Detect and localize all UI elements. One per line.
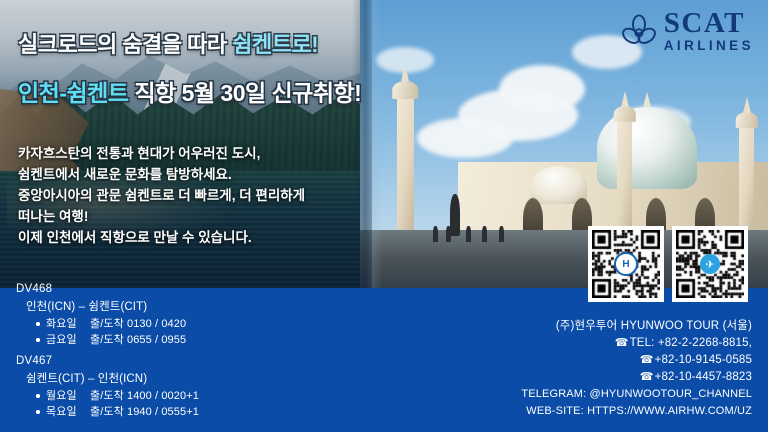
hyunwoo-h-logo-icon: H [614, 252, 638, 276]
contact-block: (주)현우투어 HYUNWOO TOUR (서울) ☎TEL: +82-2-22… [452, 318, 752, 420]
flight-times-list: 화요일출/도착 0130 / 0420 금요일출/도착 0655 / 0955 [16, 316, 356, 348]
minaret [739, 121, 754, 239]
flight-times-list: 월요일출/도착 1400 / 0020+1 목요일출/도착 1940 / 055… [16, 388, 356, 420]
minaret [397, 91, 414, 239]
headline-primary: 실크로드의 숨결을 따라 쉼켄트로! [18, 27, 318, 59]
pedestrian [433, 226, 438, 242]
flight-dep-arr-label: 출/도착 [90, 334, 124, 346]
flight-times: 0130 / 0420 [127, 318, 186, 330]
body-copy-line: 쉼켄트에서 새로운 문화를 탐방하세요. [18, 164, 358, 185]
flight-times: 0655 / 0955 [127, 334, 186, 346]
phone-icon: ☎ [640, 354, 654, 366]
flight-time-row: 금요일출/도착 0655 / 0955 [46, 332, 356, 348]
scat-airlines-logo: SCAT AIRLINES [621, 9, 754, 53]
phone-line-2: ☎+82-10-9145-0585 [452, 352, 752, 369]
flight-times: 1940 / 0555+1 [127, 406, 199, 418]
phone-number: TEL: +82-2-2268-8815, [630, 337, 752, 349]
body-copy-line: 떠나는 여행! [18, 206, 358, 227]
pedestrian [499, 226, 504, 242]
flight-number: DV467 [16, 355, 356, 367]
qr-code-group: H ✈ [588, 226, 748, 302]
headline-primary-accent: 쉼켄트로! [232, 32, 318, 57]
telegram-handle: TELEGRAM: @HYUNWOOTOUR_CHANNEL [452, 386, 752, 403]
plaza-statue [450, 194, 460, 236]
flight-day: 금요일 [46, 332, 90, 348]
flight-times: 1400 / 0020+1 [127, 390, 199, 402]
headline-primary-main: 실크로드의 숨결을 따라 [18, 32, 232, 57]
flight-route: 쉼켄트(CIT) – 인천(ICN) [26, 370, 356, 386]
flight-route: 인천(ICN) – 쉼켄트(CIT) [26, 298, 356, 314]
headline-secondary-main: 직항 5월 30일 신규취항! [128, 80, 361, 106]
pedestrian [466, 226, 471, 242]
flight-number: DV468 [16, 283, 356, 295]
flight-dep-arr-label: 출/도착 [90, 406, 124, 418]
headline-secondary: 인천-쉼켄트 직항 5월 30일 신규취항! [18, 74, 361, 108]
flight-dep-arr-label: 출/도착 [90, 390, 124, 402]
hyunwoo-tour-qr[interactable]: H [588, 226, 664, 302]
body-copy-line: 중앙아시아의 관문 쉼켄트로 더 빠르게, 더 편리하게 [18, 185, 358, 206]
phone-line-3: ☎+82-10-4457-8823 [452, 369, 752, 386]
flight-time-row: 화요일출/도착 0130 / 0420 [46, 316, 356, 332]
phone-icon: ☎ [615, 337, 629, 349]
agency-name: (주)현우투어 HYUNWOO TOUR (서울) [452, 318, 752, 335]
telegram-plane-icon: ✈ [700, 254, 720, 274]
cloud [417, 118, 513, 158]
body-copy-line: 이제 인천에서 직항으로 만날 수 있습니다. [18, 227, 358, 248]
mosque-main-dome [597, 107, 697, 189]
flight-dep-arr-label: 출/도착 [90, 318, 124, 330]
flight-day: 목요일 [46, 404, 90, 420]
body-copy: 카자흐스탄의 전통과 현대가 어우러진 도시, 쉼켄트에서 새로운 문화를 탐방… [18, 143, 358, 248]
flight-schedule: DV468 인천(ICN) – 쉼켄트(CIT) 화요일출/도착 0130 / … [16, 283, 356, 427]
advertisement-poster: SCAT AIRLINES 실크로드의 숨결을 따라 쉼켄트로! 인천-쉼켄트 … [0, 0, 768, 432]
flight-time-row: 월요일출/도착 1400 / 0020+1 [46, 388, 356, 404]
phone-number: +82-10-9145-0585 [655, 354, 752, 366]
phone-number: +82-10-4457-8823 [655, 371, 752, 383]
phone-line-1: ☎TEL: +82-2-2268-8815, [452, 335, 752, 352]
flight-block: DV467 쉼켄트(CIT) – 인천(ICN) 월요일출/도착 1400 / … [16, 355, 356, 420]
pedestrian [446, 226, 451, 242]
minaret [617, 115, 632, 239]
flight-block: DV468 인천(ICN) – 쉼켄트(CIT) 화요일출/도착 0130 / … [16, 283, 356, 348]
pedestrian [482, 226, 487, 242]
flight-day: 월요일 [46, 388, 90, 404]
phone-icon: ☎ [640, 371, 654, 383]
logo-wordmark: SCAT [664, 9, 754, 38]
body-copy-line: 카자흐스탄의 전통과 현대가 어우러진 도시, [18, 143, 358, 164]
trefoil-propeller-icon [621, 14, 657, 48]
telegram-qr[interactable]: ✈ [672, 226, 748, 302]
cloud [499, 65, 585, 113]
headline-secondary-accent: 인천-쉼켄트 [18, 80, 128, 106]
website-url: WEB-SITE: HTTPS://WWW.AIRHW.COM/UZ [452, 403, 752, 420]
logo-subtitle: AIRLINES [664, 39, 754, 53]
flight-time-row: 목요일출/도착 1940 / 0555+1 [46, 404, 356, 420]
flight-day: 화요일 [46, 316, 90, 332]
